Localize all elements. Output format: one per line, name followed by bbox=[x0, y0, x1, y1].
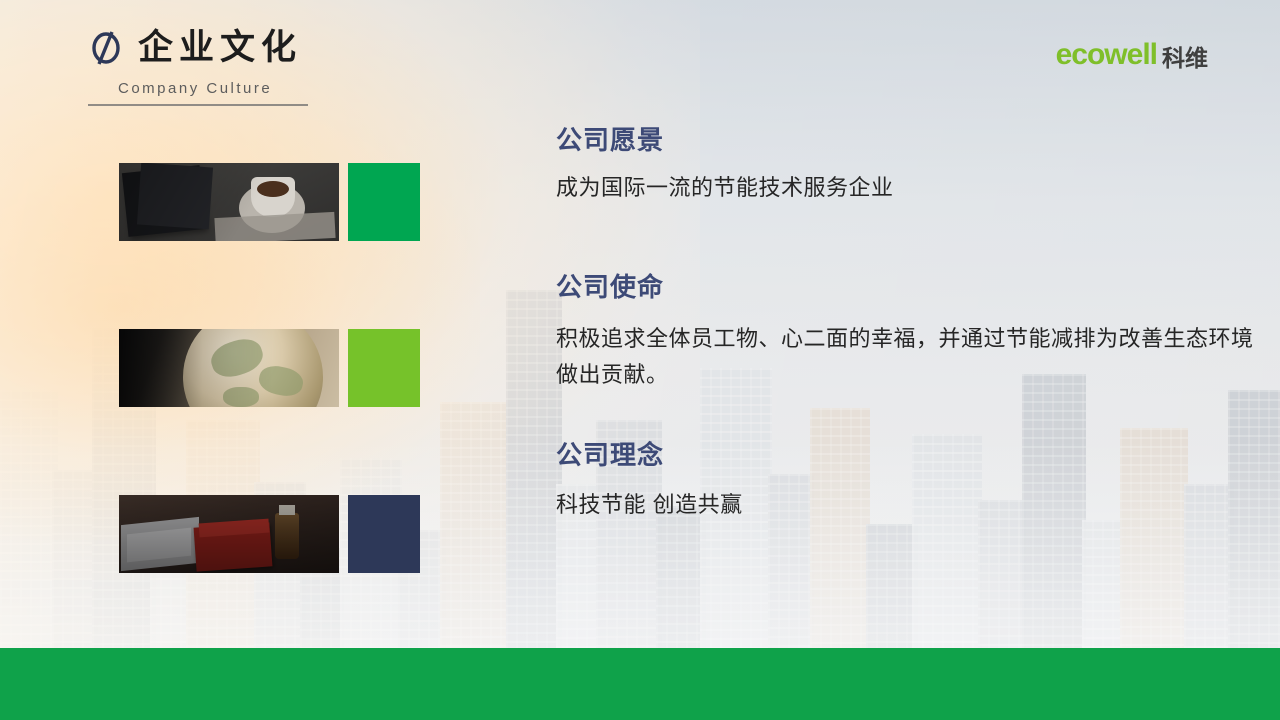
globe-map-photo bbox=[119, 329, 339, 407]
brand-name-latin: ecowell bbox=[1056, 40, 1157, 70]
section-title: 公司愿景 bbox=[556, 125, 1256, 156]
brand-name-cn: 科维 bbox=[1162, 47, 1208, 70]
laptop-and-red-notebook-photo bbox=[119, 495, 339, 573]
page-subtitle: Company Culture bbox=[118, 80, 308, 97]
content-column: 公司愿景 成为国际一流的节能技术服务企业 公司使命 积极追求全体员工物、心二面的… bbox=[556, 125, 1256, 551]
slide-header: 企业文化 Company Culture bbox=[88, 26, 308, 106]
title-row: 企业文化 bbox=[88, 26, 308, 68]
color-swatch-lightgreen bbox=[348, 329, 420, 407]
section-vision: 公司愿景 成为国际一流的节能技术服务企业 bbox=[556, 125, 1256, 206]
section-body: 成为国际一流的节能技术服务企业 bbox=[556, 170, 1256, 206]
section-title: 公司理念 bbox=[556, 440, 1256, 471]
notebook-and-coffee-photo bbox=[119, 163, 339, 241]
section-philosophy: 公司理念 科技节能 创造共赢 bbox=[556, 440, 1256, 523]
section-title: 公司使命 bbox=[556, 272, 1256, 303]
slashed-circle-icon bbox=[88, 26, 124, 68]
color-swatch-green bbox=[348, 163, 420, 241]
page-title: 企业文化 bbox=[138, 30, 302, 65]
section-body: 积极追求全体员工物、心二面的幸福，并通过节能减排为改善生态环境做出贡献。 bbox=[556, 321, 1256, 392]
brand-logo: ecowell 科维 bbox=[1056, 40, 1208, 70]
title-divider bbox=[88, 104, 308, 106]
photo-shadow bbox=[119, 163, 339, 241]
photo-vignette bbox=[119, 495, 339, 573]
section-mission: 公司使命 积极追求全体员工物、心二面的幸福，并通过节能减排为改善生态环境做出贡献… bbox=[556, 272, 1256, 392]
photo-vignette bbox=[119, 329, 339, 407]
slide: 企业文化 Company Culture ecowell 科维 bbox=[0, 0, 1280, 720]
color-swatch-navy bbox=[348, 495, 420, 573]
section-body: 科技节能 创造共赢 bbox=[556, 487, 1256, 523]
footer-bar bbox=[0, 648, 1280, 720]
